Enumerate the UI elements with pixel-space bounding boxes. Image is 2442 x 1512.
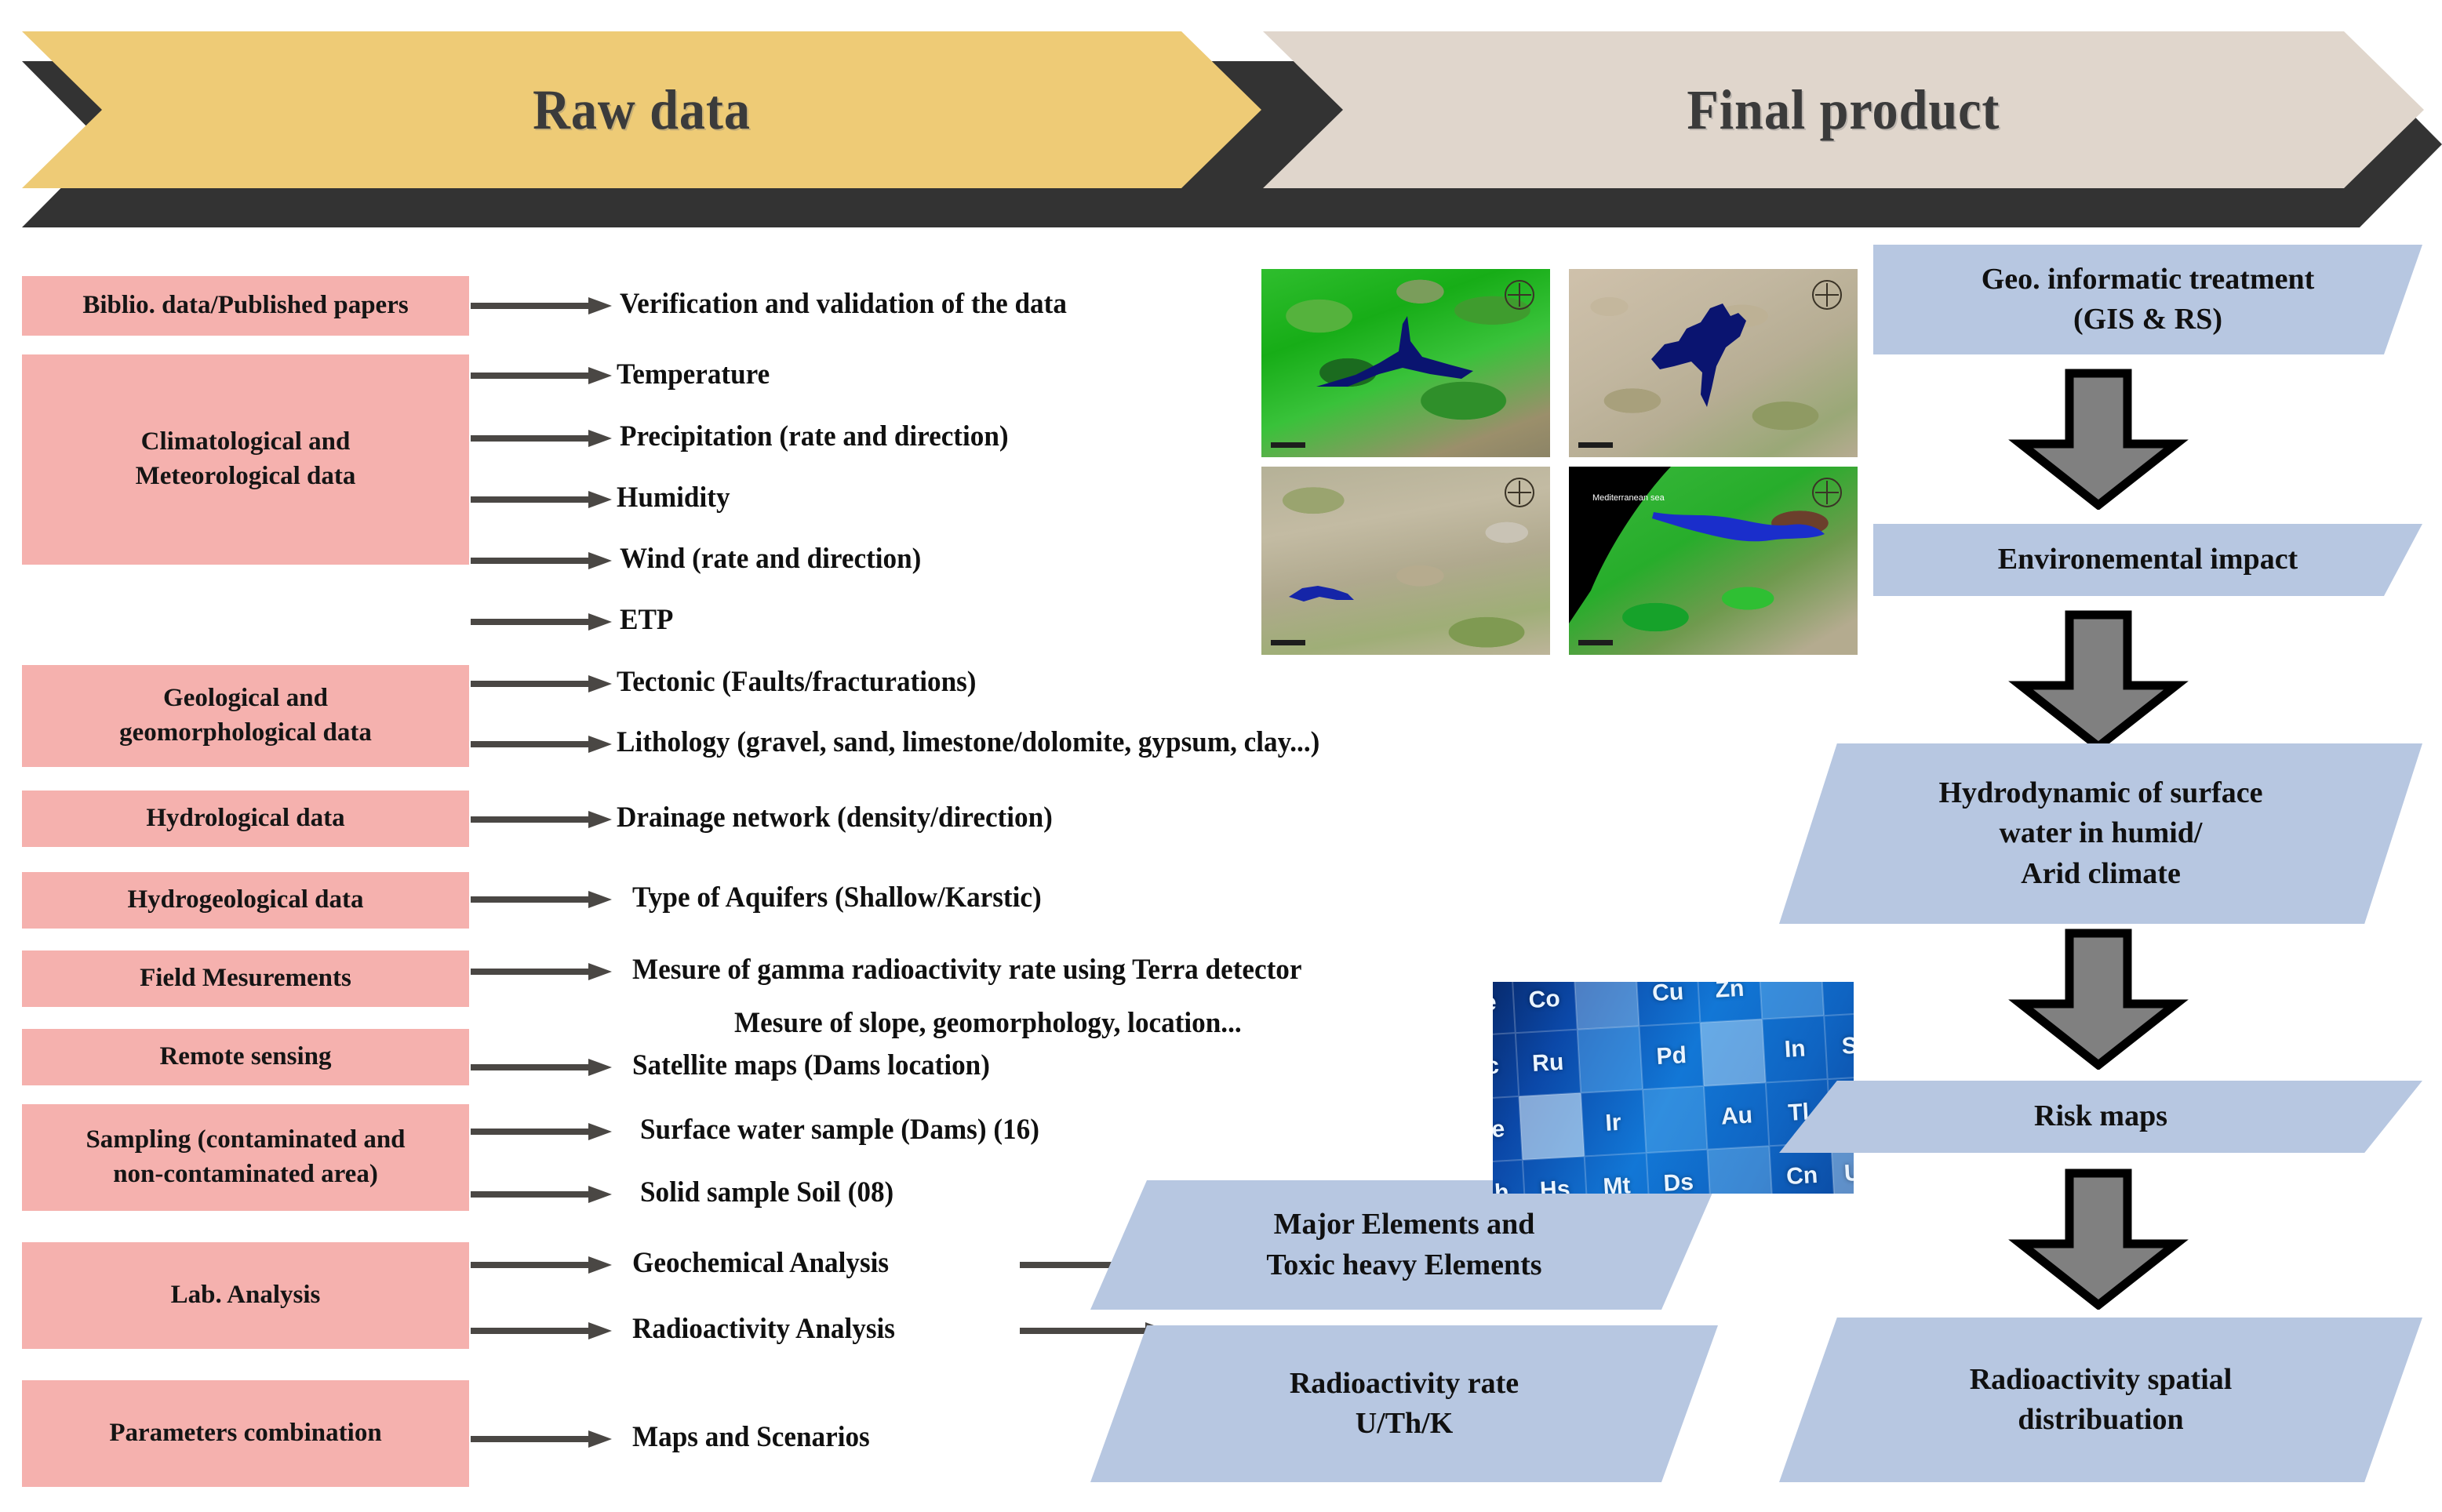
final-parallelogram-radioactivity-spatial-distribution[interactable]: Radioactivity spatial distribuation — [1779, 1318, 2422, 1482]
header-banner: Raw data Final product — [0, 16, 2442, 212]
satellite-map-4: Mediterranean sea — [1569, 467, 1858, 655]
source-label: Geological and — [163, 681, 328, 716]
result-parallelogram-major-elements[interactable]: Major Elements and Toxic heavy Elements — [1090, 1180, 1718, 1310]
pt-cell — [1821, 982, 1854, 1016]
pt-cell — [1574, 982, 1639, 1030]
source-box-geological-data[interactable]: Geological and geomorphological data — [22, 665, 469, 767]
source-box-hydrogeological-data[interactable]: Hydrogeological data — [22, 872, 469, 929]
pt-cell: Au — [1704, 1082, 1769, 1149]
source-label: Hydrological data — [146, 801, 344, 836]
connector-arrow-solid-sample-soil — [471, 1186, 612, 1203]
pt-cell: In — [1763, 1016, 1828, 1082]
sea-label: Mediterranean sea — [1592, 493, 1665, 503]
connector-arrow-satellite-maps — [471, 1059, 612, 1076]
flow-arrow-down-1 — [2008, 369, 2189, 510]
periodic-table-image: Fe Co Cu Zn Tc Ru Pd In Sn Re Ir Au Tl P… — [1493, 982, 1854, 1194]
output-label-maps-and-scenarios: Maps and Scenarios — [632, 1420, 870, 1454]
source-label: Parameters combination — [109, 1416, 381, 1451]
final-parallelogram-environmental-impact[interactable]: Environemental impact — [1873, 524, 2422, 596]
banner-raw-data-label: Raw data — [533, 78, 751, 143]
output-label-solid-sample-soil: Solid sample Soil (08) — [640, 1176, 893, 1209]
source-label: Sampling (contaminated and — [86, 1123, 405, 1158]
periodic-table-grid: Fe Co Cu Zn Tc Ru Pd In Sn Re Ir Au Tl P… — [1493, 982, 1854, 1194]
pt-cell: Mt — [1584, 1153, 1649, 1194]
source-label: Remote sensing — [159, 1040, 331, 1074]
output-label-lithology: Lithology (gravel, sand, limestone/dolom… — [617, 725, 1319, 759]
satellite-map-1 — [1261, 269, 1550, 457]
pt-cell: Bh — [1493, 1160, 1526, 1194]
source-box-remote-sensing[interactable]: Remote sensing — [22, 1029, 469, 1085]
final-label-line2: distribuation — [2018, 1400, 2183, 1440]
final-label-line1: Radioactivity spatial — [1970, 1360, 2233, 1400]
source-box-field-measurements[interactable]: Field Mesurements — [22, 950, 469, 1007]
output-label-gamma-radioactivity: Mesure of gamma radioactivity rate using… — [632, 953, 1301, 987]
output-label-etp: ETP — [620, 603, 673, 637]
flow-arrow-down-3 — [2008, 929, 2189, 1070]
output-label-wind: Wind (rate and direction) — [620, 542, 921, 576]
output-label-temperature: Temperature — [617, 358, 770, 391]
source-label: Climatological and — [141, 425, 351, 460]
source-box-sampling[interactable]: Sampling (contaminated and non-contamina… — [22, 1104, 469, 1211]
final-label-line2: (GIS & RS) — [2073, 300, 2222, 340]
final-parallelogram-risk-maps[interactable]: Risk maps — [1779, 1081, 2422, 1153]
source-label: Lab. Analysis — [171, 1278, 321, 1313]
pt-cell — [1701, 1020, 1766, 1086]
final-label-line2: water in humid/ — [1999, 813, 2202, 853]
final-label-line1: Geo. informatic treatment — [1982, 260, 2315, 300]
output-label-radioactivity-analysis: Radioactivity Analysis — [632, 1312, 895, 1346]
connector-arrow-humidity — [471, 491, 612, 508]
source-box-climatological-data[interactable]: Climatological and Meteorological data — [22, 354, 469, 565]
final-label-line3: Arid climate — [2021, 854, 2181, 894]
output-label-mesure-of-slope: Mesure of slope, geomorphology, location… — [734, 1006, 1242, 1040]
satellite-map-mosaic: Mediterranean sea — [1255, 255, 1875, 682]
output-label-geochemical-analysis: Geochemical Analysis — [632, 1246, 889, 1280]
source-label: Hydrogeological data — [128, 883, 364, 918]
final-parallelogram-geo-informatic-treatment[interactable]: Geo. informatic treatment (GIS & RS) — [1873, 245, 2422, 354]
pt-cell: Hs — [1523, 1156, 1588, 1194]
output-label-precipitation: Precipitation (rate and direction) — [620, 420, 1009, 453]
output-label-drainage-network: Drainage network (density/direction) — [617, 801, 1053, 834]
final-label-line1: Risk maps — [2034, 1096, 2167, 1136]
output-label-type-of-aquifers: Type of Aquifers (Shallow/Karstic) — [632, 881, 1042, 914]
flowchart-canvas: Raw data Final product Biblio. data/Publ… — [0, 0, 2442, 1512]
connector-arrow-wind — [471, 552, 612, 569]
pt-cell — [1643, 1086, 1708, 1153]
output-label-humidity: Humidity — [617, 481, 730, 514]
result-parallelogram-radioactivity-rate[interactable]: Radioactivity rate U/Th/K — [1090, 1325, 1718, 1482]
pt-cell: Re — [1493, 1096, 1523, 1163]
final-label-line1: Environemental impact — [1998, 540, 2298, 580]
pt-cell: Zn — [1697, 982, 1762, 1023]
pt-cell: Ir — [1581, 1089, 1646, 1156]
source-label-line2: non-contaminated area) — [113, 1158, 378, 1192]
final-parallelogram-hydrodynamic-surface-water[interactable]: Hydrodynamic of surface water in humid/ … — [1779, 743, 2422, 924]
pt-cell — [1759, 982, 1824, 1020]
connector-arrow-radioactivity-analysis — [471, 1322, 612, 1339]
source-label: Field Mesurements — [140, 961, 351, 996]
connector-arrow-aquifers — [471, 891, 612, 908]
pt-cell: Fe — [1493, 982, 1516, 1037]
flow-arrow-down-2 — [2008, 610, 2189, 751]
pt-cell: Tc — [1493, 1033, 1519, 1099]
connector-arrow-drainage-network — [471, 811, 612, 828]
connector-arrow-tectonic — [471, 675, 612, 692]
flow-arrow-down-4 — [2008, 1169, 2189, 1310]
pt-cell — [1708, 1146, 1773, 1194]
output-label-satellite-maps: Satellite maps (Dams location) — [632, 1049, 990, 1082]
connector-arrow-surface-water-sample — [471, 1123, 612, 1140]
output-label-verification: Verification and validation of the data — [620, 287, 1067, 321]
connector-arrow-geochemical-analysis — [471, 1256, 612, 1274]
pt-cell: Co — [1512, 982, 1577, 1033]
pt-cell: Sn — [1824, 1012, 1854, 1079]
output-label-surface-water-sample: Surface water sample (Dams) (16) — [640, 1113, 1039, 1147]
source-label-line2: geomorphological data — [119, 716, 372, 751]
connector-arrow-precipitation — [471, 430, 612, 447]
pt-cell — [1519, 1093, 1584, 1160]
source-box-bibliographic-data[interactable]: Biblio. data/Published papers — [22, 276, 469, 336]
connector-arrow-etp — [471, 613, 612, 631]
result-label-line1: Major Elements and — [1274, 1205, 1535, 1245]
satellite-map-3 — [1261, 467, 1550, 655]
final-label-line1: Hydrodynamic of surface — [1938, 773, 2262, 813]
pt-cell — [1577, 1026, 1642, 1092]
connector-arrow-lithology — [471, 736, 612, 753]
banner-segment-final-product: Final product — [1263, 31, 2424, 188]
output-label-tectonic: Tectonic (Faults/fracturations) — [617, 665, 977, 699]
satellite-map-2 — [1569, 269, 1858, 457]
source-box-parameters-combination[interactable]: Parameters combination — [22, 1380, 469, 1487]
result-label-line1: Radioactivity rate — [1290, 1364, 1519, 1404]
source-label: Biblio. data/Published papers — [82, 289, 408, 323]
source-label-line2: Meteorological data — [136, 460, 356, 494]
result-label-line2: Toxic heavy Elements — [1266, 1245, 1541, 1285]
source-box-lab-analysis[interactable]: Lab. Analysis — [22, 1242, 469, 1349]
connector-arrow-temperature — [471, 367, 612, 384]
pt-cell: Ds — [1646, 1150, 1711, 1194]
banner-segment-raw-data: Raw data — [22, 31, 1261, 188]
connector-arrow-bibliographic — [471, 297, 612, 314]
result-label-line2: U/Th/K — [1356, 1404, 1454, 1444]
banner-final-product-label: Final product — [1687, 78, 2000, 143]
source-box-hydrological-data[interactable]: Hydrological data — [22, 791, 469, 847]
pt-cell: Pd — [1639, 1023, 1704, 1089]
connector-arrow-maps-and-scenarios — [471, 1430, 612, 1448]
connector-arrow-gamma-radioactivity — [471, 963, 612, 980]
pt-cell: Ru — [1516, 1030, 1581, 1096]
pt-cell: Cu — [1636, 982, 1701, 1026]
